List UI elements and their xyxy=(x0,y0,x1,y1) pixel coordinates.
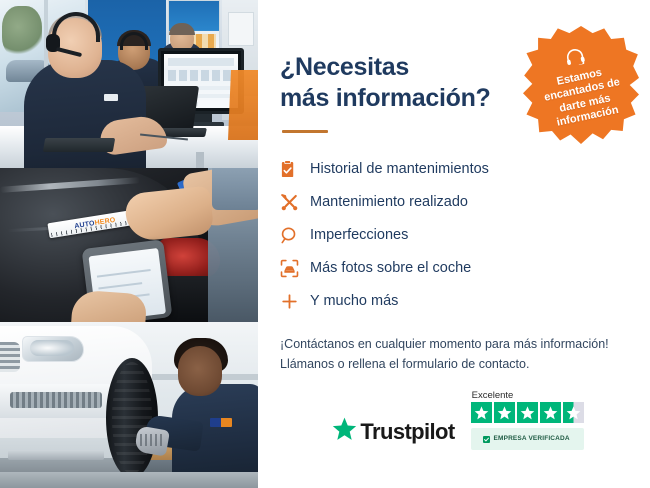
badge-inner: Estamos encantados de darte más informac… xyxy=(512,15,650,155)
info-banner: AUTOHERO xyxy=(0,0,650,488)
magnifier-icon xyxy=(280,226,310,245)
trustpilot-rating-label: Excelente xyxy=(472,391,514,401)
plus-icon xyxy=(280,292,310,311)
photo3-glove-grip xyxy=(140,434,162,446)
trustpilot-logo-text: Trustpilot xyxy=(360,421,454,443)
feature-item-maintenance-done: Mantenimiento realizado xyxy=(280,186,630,219)
trustpilot-rating[interactable]: Trustpilot Excelente xyxy=(280,391,636,451)
call-center-agents-photo xyxy=(0,0,258,168)
title-divider xyxy=(282,130,328,133)
trustpilot-logo[interactable]: Trustpilot xyxy=(332,417,454,450)
trustpilot-star-filled xyxy=(517,402,538,423)
photo2-tablet-line xyxy=(98,282,142,289)
photo2-tablet-line xyxy=(97,269,151,278)
trustpilot-stars xyxy=(471,402,584,423)
photo1-wall-card xyxy=(228,12,254,46)
headset-icon xyxy=(563,46,587,72)
feature-item-more-photos: Más fotos sobre el coche xyxy=(280,252,630,285)
car-inspection-photo: AUTOHERO xyxy=(0,168,258,322)
feature-label: Mantenimiento realizado xyxy=(310,195,468,210)
contact-line2: Llámanos o rellena el formulario de cont… xyxy=(280,357,529,371)
photo-collage: AUTOHERO xyxy=(0,0,258,488)
mechanic-wheel-photo xyxy=(0,322,258,488)
maintenance-history-icon xyxy=(280,160,310,179)
photo1-name-badge xyxy=(104,94,118,101)
page-title-line2: más información? xyxy=(280,84,491,112)
feature-label: Imperfecciones xyxy=(310,228,408,243)
photo3-tyre-tread xyxy=(112,362,152,474)
photo1-keyboard xyxy=(43,138,115,152)
photo2-sleeve xyxy=(212,168,258,210)
photo3-uniform-logo xyxy=(210,418,232,427)
info-content: ¿Necesitas más información? Estamos enca… xyxy=(258,0,650,488)
photo1-desk-leg xyxy=(196,152,204,168)
verified-check-icon xyxy=(483,430,490,448)
trustpilot-score-block: Excelente xyxy=(471,391,584,451)
trustpilot-star-half xyxy=(563,402,584,423)
feature-item-maintenance-history: Historial de mantenimientos xyxy=(280,153,630,186)
trustpilot-star-icon xyxy=(332,417,357,446)
page-title: ¿Necesitas más información? xyxy=(280,52,520,113)
trustpilot-star-filled xyxy=(494,402,515,423)
car-photo-icon xyxy=(280,259,310,278)
contact-text: ¡Contáctanos en cualquier momento para m… xyxy=(280,334,630,375)
photo3-head xyxy=(178,346,222,396)
contact-line1: ¡Contáctanos en cualquier momento para m… xyxy=(280,337,609,351)
feature-label: Y mucho más xyxy=(310,294,398,309)
photo2-hand-holding-ruler xyxy=(124,186,215,243)
photo3-lift-arm xyxy=(8,450,104,460)
support-badge: Estamos encantados de darte más informac… xyxy=(523,26,639,144)
feature-label: Historial de mantenimientos xyxy=(310,162,489,177)
page-title-line1: ¿Necesitas xyxy=(280,53,409,81)
trustpilot-star-filled xyxy=(540,402,561,423)
photo1-screen-toolbar xyxy=(168,58,234,66)
photo3-headlight-inner xyxy=(30,340,74,356)
trustpilot-star-filled xyxy=(471,402,492,423)
photo3-grille xyxy=(0,342,20,372)
feature-item-much-more: Y mucho más xyxy=(280,285,630,318)
verified-company-badge: EMPRESA VERIFICADA xyxy=(471,428,584,450)
verified-company-text: EMPRESA VERIFICADA xyxy=(494,436,570,443)
feature-label: Más fotos sobre el coche xyxy=(310,261,471,276)
feature-list: Historial de mantenimientos Mantenimient… xyxy=(280,153,630,318)
photo1-screen-thumbnails xyxy=(168,70,234,81)
tools-icon xyxy=(280,193,310,212)
feature-item-imperfections: Imperfecciones xyxy=(280,219,630,252)
photo3-floor xyxy=(0,472,258,488)
photo1-greenery xyxy=(2,6,42,58)
photo1-orange-object xyxy=(228,70,258,140)
badge-text: Estamos encantados de darte más informac… xyxy=(531,61,636,133)
photo3-lower-grille xyxy=(10,392,102,408)
